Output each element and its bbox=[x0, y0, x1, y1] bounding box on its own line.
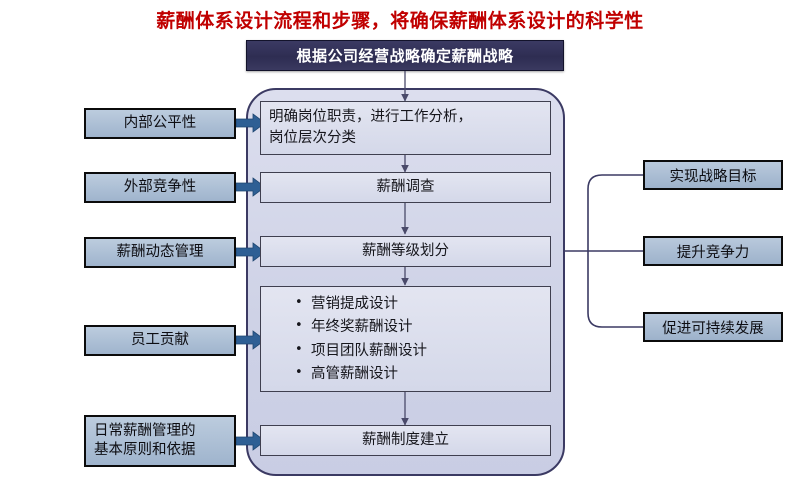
flow-step-salary-survey[interactable]: 薪酬调查 bbox=[260, 172, 551, 203]
flow-step-label: 薪酬调查 bbox=[377, 177, 435, 198]
flow-step-incentive-designs[interactable]: 营销提成设计 年终奖薪酬设计 项目团队薪酬设计 高管薪酬设计 bbox=[260, 286, 551, 392]
right-outcome-strategic-goal[interactable]: 实现战略目标 bbox=[643, 160, 783, 190]
left-input-employee-contribution[interactable]: 员工贡献 bbox=[84, 325, 236, 356]
left-input-line1: 日常薪酬管理的 bbox=[94, 422, 196, 441]
flow-step-line2: 岗位层次分类 bbox=[269, 128, 472, 149]
list-item: 年终奖薪酬设计 bbox=[295, 316, 550, 339]
flow-step-job-analysis[interactable]: 明确岗位职责，进行工作分析， 岗位层次分类 bbox=[260, 101, 551, 155]
flow-step-line1: 明确岗位职责，进行工作分析， bbox=[269, 107, 472, 128]
strategy-header-label: 根据公司经营战略确定薪酬战略 bbox=[296, 45, 513, 66]
strategy-header-box: 根据公司经营战略确定薪酬战略 bbox=[246, 40, 564, 71]
right-outcome-label: 提升竞争力 bbox=[677, 241, 750, 262]
left-input-external-competitiveness[interactable]: 外部竞争性 bbox=[84, 172, 236, 203]
left-input-line2: 基本原则和依据 bbox=[94, 441, 196, 460]
left-input-label: 外部竞争性 bbox=[124, 178, 197, 197]
list-item: 营销提成设计 bbox=[295, 293, 550, 316]
left-input-daily-management-principles[interactable]: 日常薪酬管理的 基本原则和依据 bbox=[84, 415, 236, 467]
slide-canvas: 薪酬体系设计流程和步骤，将确保薪酬体系设计的科学性 根据公司经营战略确定薪酬战略 bbox=[0, 0, 800, 482]
flow-step-system-establishment[interactable]: 薪酬制度建立 bbox=[260, 425, 551, 456]
right-outcome-label: 促进可持续发展 bbox=[662, 317, 764, 338]
flow-step-salary-grading[interactable]: 薪酬等级划分 bbox=[260, 236, 551, 267]
right-bracket-connector bbox=[565, 175, 643, 327]
left-input-label: 内部公平性 bbox=[124, 114, 197, 133]
list-item: 高管薪酬设计 bbox=[295, 363, 550, 386]
flow-step-label: 薪酬制度建立 bbox=[362, 430, 449, 451]
page-title: 薪酬体系设计流程和步骤，将确保薪酬体系设计的科学性 bbox=[0, 6, 800, 33]
flow-step-text: 明确岗位职责，进行工作分析， 岗位层次分类 bbox=[269, 107, 472, 149]
left-input-label: 日常薪酬管理的 基本原则和依据 bbox=[94, 422, 196, 460]
incentive-design-list: 营销提成设计 年终奖薪酬设计 项目团队薪酬设计 高管薪酬设计 bbox=[279, 293, 550, 387]
flow-step-label: 薪酬等级划分 bbox=[362, 241, 449, 262]
right-outcome-competitiveness[interactable]: 提升竞争力 bbox=[643, 236, 783, 266]
left-input-label: 薪酬动态管理 bbox=[117, 243, 204, 262]
left-input-label: 员工贡献 bbox=[131, 331, 189, 350]
left-input-internal-equity[interactable]: 内部公平性 bbox=[84, 108, 236, 139]
right-outcome-sustainable-development[interactable]: 促进可持续发展 bbox=[643, 312, 783, 342]
left-input-dynamic-management[interactable]: 薪酬动态管理 bbox=[84, 237, 236, 268]
right-outcome-label: 实现战略目标 bbox=[670, 165, 757, 186]
list-item: 项目团队薪酬设计 bbox=[295, 340, 550, 363]
